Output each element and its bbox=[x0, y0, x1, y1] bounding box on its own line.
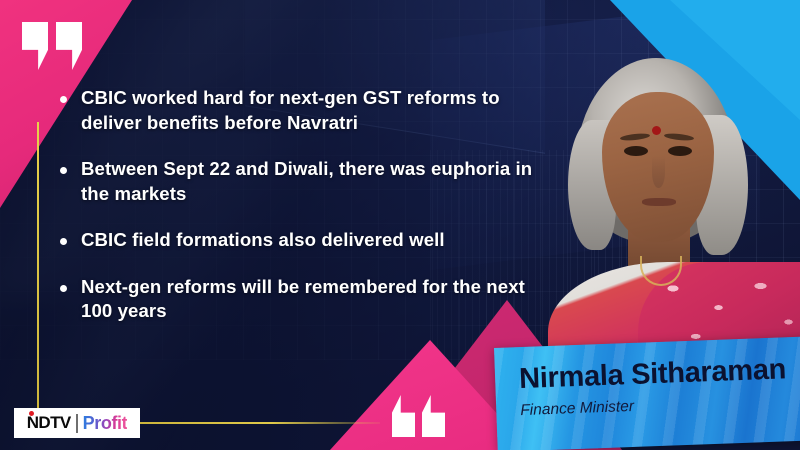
portrait-bindi bbox=[652, 126, 661, 135]
closing-quote-icon bbox=[392, 395, 450, 437]
bullet-dot-icon bbox=[60, 238, 67, 245]
gold-horizontal-rule bbox=[140, 422, 380, 424]
bullet-item: CBIC field formations also delivered wel… bbox=[60, 228, 536, 253]
opening-quote-icon bbox=[22, 22, 88, 70]
bullet-item: Next-gen reforms will be remembered for … bbox=[60, 275, 536, 324]
portrait-mouth bbox=[642, 198, 676, 206]
quote-bullet-list: CBIC worked hard for next-gen GST reform… bbox=[60, 86, 536, 346]
portrait-nose bbox=[652, 156, 665, 188]
ndtv-profit-logo: NDTV Profit bbox=[14, 408, 140, 438]
bullet-dot-icon bbox=[60, 285, 67, 292]
logo-profit-text: Profit bbox=[83, 413, 128, 434]
quote-graphic-card: CBIC worked hard for next-gen GST reform… bbox=[0, 0, 800, 450]
bullet-item: CBIC worked hard for next-gen GST reform… bbox=[60, 86, 536, 135]
logo-red-dot-icon bbox=[29, 411, 34, 416]
bullet-text: CBIC field formations also delivered wel… bbox=[81, 228, 445, 253]
bullet-text: CBIC worked hard for next-gen GST reform… bbox=[81, 86, 536, 135]
portrait-eye-right bbox=[668, 146, 692, 156]
speaker-title: Finance Minister bbox=[520, 391, 800, 420]
portrait-eye-left bbox=[624, 146, 648, 156]
speaker-name: Nirmala Sitharaman bbox=[519, 352, 800, 396]
logo-separator bbox=[76, 414, 78, 433]
speaker-name-banner: Nirmala Sitharaman Finance Minister bbox=[494, 336, 800, 450]
bullet-item: Between Sept 22 and Diwali, there was eu… bbox=[60, 157, 536, 206]
bullet-text: Between Sept 22 and Diwali, there was eu… bbox=[81, 157, 536, 206]
logo-ndtv-text: NDTV bbox=[27, 413, 71, 433]
bullet-dot-icon bbox=[60, 96, 67, 103]
gold-vertical-rule bbox=[37, 122, 39, 418]
bullet-dot-icon bbox=[60, 167, 67, 174]
bullet-text: Next-gen reforms will be remembered for … bbox=[81, 275, 536, 324]
speaker-portrait bbox=[528, 0, 800, 366]
